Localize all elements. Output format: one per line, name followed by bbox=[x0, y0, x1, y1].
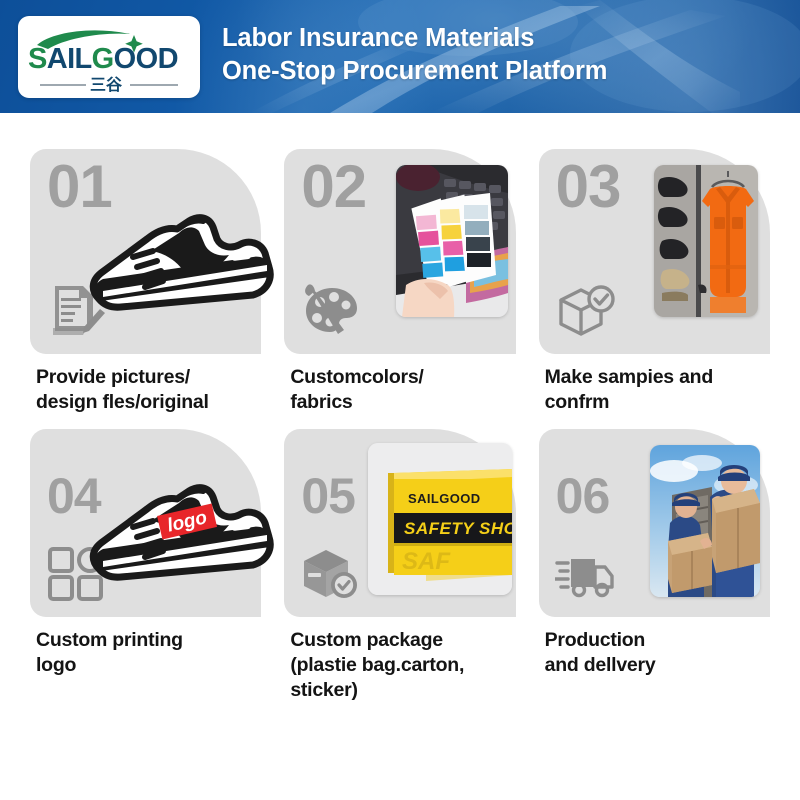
palette-brush-icon bbox=[300, 280, 362, 338]
step-caption-06: Production and dellvery bbox=[539, 628, 770, 678]
delivery-workers-photo bbox=[650, 445, 760, 597]
step-card-06[interactable]: 06 bbox=[539, 429, 770, 703]
box-brand-text: SAILGOOD bbox=[408, 491, 481, 506]
step-panel-06: 06 bbox=[539, 429, 770, 617]
step-card-05[interactable]: 05 SHO SA bbox=[284, 429, 515, 703]
step-caption-04: Custom printing logo bbox=[30, 628, 261, 678]
package-check-icon bbox=[300, 543, 362, 601]
step-panel-03: 03 bbox=[539, 149, 770, 354]
step-card-01[interactable]: 01 bbox=[30, 149, 261, 415]
box-check-icon bbox=[555, 280, 617, 338]
brand-logo: SAILGOOD 三谷 bbox=[18, 16, 200, 98]
step-caption-02: Customcolors/ fabrics bbox=[284, 365, 515, 415]
sneaker-with-logo-illustration: logo bbox=[81, 465, 277, 595]
header-banner: SAILGOOD 三谷 Labor Insurance Materials On… bbox=[0, 0, 800, 113]
step-caption-05: Custom package (plastie bag.carton, stic… bbox=[284, 628, 515, 703]
banner-title: Labor Insurance Materials One-Stop Procu… bbox=[222, 22, 607, 88]
banner-title-line1: Labor Insurance Materials bbox=[222, 24, 534, 52]
step-panel-05: 05 SHO SA bbox=[284, 429, 515, 617]
step-caption-01: Provide pictures/ design fles/original bbox=[30, 365, 261, 415]
delivery-truck-icon bbox=[555, 543, 617, 601]
step-card-02[interactable]: 02 bbox=[284, 149, 515, 415]
step-number-02: 02 bbox=[301, 157, 366, 217]
sailgood-logo-mark: SAILGOOD 三谷 bbox=[18, 16, 200, 98]
step-number-05: 05 bbox=[301, 471, 355, 521]
svg-text:SAF: SAF bbox=[402, 548, 451, 575]
svg-text:三谷: 三谷 bbox=[90, 76, 123, 94]
steps-grid: 01 bbox=[0, 113, 800, 703]
banner-title-line2: One-Stop Procurement Platform bbox=[222, 55, 607, 88]
step-card-03[interactable]: 03 bbox=[539, 149, 770, 415]
color-swatch-photo bbox=[396, 165, 508, 317]
box-label-text: SAFETY SHOES bbox=[404, 519, 512, 538]
step-panel-01: 01 bbox=[30, 149, 261, 354]
step-number-03: 03 bbox=[556, 157, 621, 217]
step-panel-02: 02 bbox=[284, 149, 515, 354]
safety-shoes-box-photo: SHO SAF SAILGOOD SAFETY SHOES SAF bbox=[368, 443, 512, 595]
step-caption-03: Make sampies and confrm bbox=[539, 365, 770, 415]
step-number-06: 06 bbox=[556, 471, 610, 521]
workwear-samples-photo bbox=[654, 165, 758, 317]
step-panel-04: 04 bbox=[30, 429, 261, 617]
svg-text:SAILGOOD: SAILGOOD bbox=[28, 43, 178, 75]
step-card-04[interactable]: 04 bbox=[30, 429, 261, 703]
sneaker-illustration bbox=[81, 195, 277, 325]
